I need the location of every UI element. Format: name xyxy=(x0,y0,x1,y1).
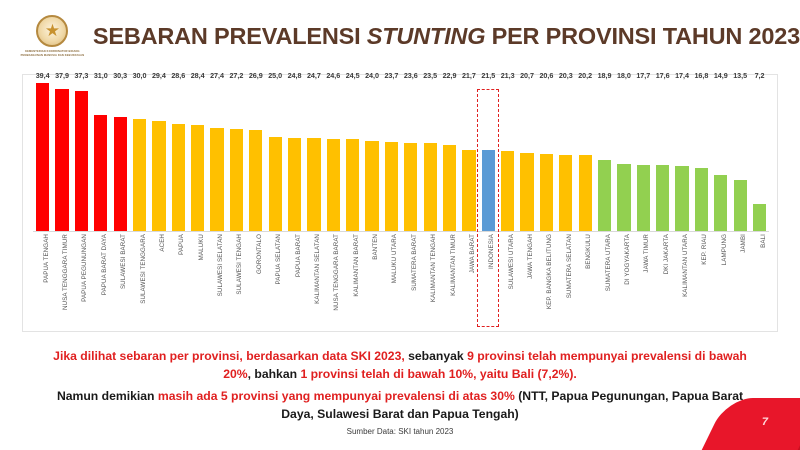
bar-value-label: 27,4 xyxy=(210,71,224,80)
bar xyxy=(520,153,533,231)
source-note: Sumber Data: SKI tahun 2023 xyxy=(0,427,800,436)
bar-value-label: 21,5 xyxy=(481,71,495,80)
bar xyxy=(55,89,68,231)
bar xyxy=(579,155,592,231)
category-slot: SUMATERA SELATAN xyxy=(556,233,575,325)
category-slot: SULAWESI TENGGARA xyxy=(130,233,149,325)
category-slot: LAMPUNG xyxy=(711,233,730,325)
bar-value-label: 29,4 xyxy=(152,71,166,80)
bar-slot: 29,4 xyxy=(149,81,168,231)
title-part-1: SEBARAN PREVALENSI xyxy=(93,23,367,49)
category-label: LAMPUNG xyxy=(721,234,728,265)
category-label: BENGKULU xyxy=(585,234,592,269)
bar xyxy=(307,138,320,231)
bar-slot: 24,6 xyxy=(324,81,343,231)
category-slot: BALI xyxy=(750,233,769,325)
bar-value-label: 22,9 xyxy=(443,71,457,80)
bar-value-label: 24,7 xyxy=(307,71,321,80)
bar xyxy=(714,175,727,231)
category-slot: PAPUA BARAT DAYA xyxy=(91,233,110,325)
caption-paragraph-1: Jika dilihat sebaran per provinsi, berda… xyxy=(40,348,760,383)
bar-slot: 24,8 xyxy=(285,81,304,231)
bar-slot: 17,4 xyxy=(672,81,691,231)
bar xyxy=(75,91,88,231)
bar xyxy=(424,143,437,231)
category-slot: NUSA TENGGARA TIMUR xyxy=(52,233,71,325)
bar-series: 39,437,937,331,030,330,029,428,628,427,4… xyxy=(33,81,769,231)
category-slot: BANTEN xyxy=(362,233,381,325)
category-slot: KALIMANTAN UTARA xyxy=(672,233,691,325)
category-slot: PAPUA PEGUNUNGAN xyxy=(72,233,91,325)
bar-slot: 20,7 xyxy=(517,81,536,231)
bar-value-label: 30,0 xyxy=(133,71,147,80)
bar-slot: 23,7 xyxy=(382,81,401,231)
bar-slot: 7,2 xyxy=(750,81,769,231)
category-label: ACEH xyxy=(159,234,166,252)
bar-slot: 26,9 xyxy=(246,81,265,231)
category-slot: PAPUA xyxy=(169,233,188,325)
category-label: SULAWESI BARAT xyxy=(120,234,127,289)
bar-slot: 24,5 xyxy=(343,81,362,231)
bar xyxy=(269,137,282,231)
category-label: BALI xyxy=(760,234,767,248)
category-label: KEP. BANGKA BELITUNG xyxy=(546,234,553,309)
caption-run-1: sebanyak xyxy=(408,349,467,363)
bar-slot: 13,5 xyxy=(731,81,750,231)
bar xyxy=(230,129,243,231)
bar-slot: 39,4 xyxy=(33,81,52,231)
bar xyxy=(346,139,359,231)
category-label: NUSA TENGGARA BARAT xyxy=(333,234,340,311)
bar xyxy=(753,204,766,231)
category-slot: SUMATERA BARAT xyxy=(401,233,420,325)
bar-slot: 21,5 xyxy=(479,81,498,231)
bar xyxy=(249,130,262,231)
category-slot: MALUKU xyxy=(188,233,207,325)
caption-run-3: , bahkan xyxy=(248,367,301,381)
bar-value-label: 37,3 xyxy=(74,71,88,80)
bar-value-label: 21,7 xyxy=(462,71,476,80)
category-label: SUMATERA SELATAN xyxy=(566,234,573,298)
bar-value-label: 37,9 xyxy=(55,71,69,80)
bar-chart: 39,437,937,331,030,330,029,428,628,427,4… xyxy=(33,81,769,327)
category-label: KALIMANTAN SELATAN xyxy=(314,234,321,304)
bar xyxy=(734,180,747,231)
bar xyxy=(114,117,127,231)
category-slot: JAWA BARAT xyxy=(459,233,478,325)
category-slot: SULAWESI TENGAH xyxy=(227,233,246,325)
bar xyxy=(540,154,553,231)
bar-slot: 25,0 xyxy=(266,81,285,231)
bar-value-label: 28,6 xyxy=(171,71,185,80)
category-label: JAWA TENGAH xyxy=(527,234,534,279)
category-label: KALIMANTAN TIMUR xyxy=(450,234,457,296)
category-slot: SULAWESI BARAT xyxy=(111,233,130,325)
bar xyxy=(598,160,611,231)
bar-slot: 18,0 xyxy=(614,81,633,231)
bar-value-label: 20,6 xyxy=(539,71,553,80)
category-slot: SUMATERA UTARA xyxy=(595,233,614,325)
bar xyxy=(152,121,165,231)
bar-value-label: 23,6 xyxy=(404,71,418,80)
category-label: DKI JAKARTA xyxy=(663,234,670,274)
bar-value-label: 24,8 xyxy=(288,71,302,80)
category-label: KEP. RIAU xyxy=(701,234,708,265)
bar-value-label: 18,9 xyxy=(598,71,612,80)
category-label: MALUKU UTARA xyxy=(391,234,398,283)
bar-slot: 17,6 xyxy=(653,81,672,231)
caption-paragraph-2: Namun demikian masih ada 5 provinsi yang… xyxy=(40,388,760,423)
caption-run-0: Namun demikian xyxy=(57,389,158,403)
category-slot: KALIMANTAN TIMUR xyxy=(440,233,459,325)
bar-slot: 20,2 xyxy=(576,81,595,231)
bar-slot: 21,7 xyxy=(459,81,478,231)
bar-value-label: 7,2 xyxy=(755,71,765,80)
category-slot: PAPUA TENGAH xyxy=(33,233,52,325)
caption-run-1: masih ada 5 provinsi yang mempunyai prev… xyxy=(158,389,515,403)
category-label: PAPUA xyxy=(178,234,185,255)
category-label: MALUKU xyxy=(198,234,205,260)
bar xyxy=(675,166,688,231)
corner-decoration: 7 xyxy=(696,396,800,450)
bar xyxy=(133,119,146,232)
bar xyxy=(172,124,185,231)
bar-slot: 20,3 xyxy=(556,81,575,231)
category-label: JAWA BARAT xyxy=(469,234,476,273)
star-emblem-icon: ★ xyxy=(36,15,68,47)
bar-value-label: 20,3 xyxy=(559,71,573,80)
bar-slot: 27,2 xyxy=(227,81,246,231)
bar xyxy=(695,168,708,231)
category-label: PAPUA BARAT DAYA xyxy=(101,234,108,295)
slide-header: ★ KEMENTERIAN KOORDINATOR BIDANG PEMBANG… xyxy=(0,0,800,72)
bar-value-label: 23,7 xyxy=(384,71,398,80)
category-slot: KALIMANTAN SELATAN xyxy=(304,233,323,325)
category-label: SULAWESI TENGGARA xyxy=(140,234,147,304)
category-label: NUSA TENGGARA TIMUR xyxy=(62,234,69,310)
category-slot: SULAWESI UTARA xyxy=(498,233,517,325)
bar xyxy=(94,115,107,231)
category-slot: DI YOGYAKARTA xyxy=(614,233,633,325)
category-label: SULAWESI SELATAN xyxy=(217,234,224,296)
bar-value-label: 21,3 xyxy=(501,71,515,80)
category-slot: JAWA TENGAH xyxy=(517,233,536,325)
bar-value-label: 24,5 xyxy=(346,71,360,80)
x-axis-line xyxy=(33,231,769,232)
category-slot: PAPUA BARAT xyxy=(285,233,304,325)
bar-value-label: 20,7 xyxy=(520,71,534,80)
bar xyxy=(637,165,650,231)
bar-slot: 22,9 xyxy=(440,81,459,231)
bar xyxy=(210,128,223,231)
logo-caption-line2: PEMBANGUNAN MANUSIA DAN KEBUDAYAAN xyxy=(21,54,85,58)
bar-value-label: 18,0 xyxy=(617,71,631,80)
category-label: SULAWESI UTARA xyxy=(508,234,515,289)
category-slot: SULAWESI SELATAN xyxy=(207,233,226,325)
bar-slot: 23,6 xyxy=(401,81,420,231)
category-label: KALIMANTAN TENGAH xyxy=(430,234,437,302)
category-slot: KEP. RIAU xyxy=(692,233,711,325)
bar-slot: 37,3 xyxy=(72,81,91,231)
bar-slot: 27,4 xyxy=(207,81,226,231)
bar-value-label: 39,4 xyxy=(36,71,50,80)
category-label: PAPUA SELATAN xyxy=(275,234,282,284)
category-label: DI YOGYAKARTA xyxy=(624,234,631,285)
corner-shape-front xyxy=(696,398,800,450)
bar xyxy=(385,142,398,231)
bar-value-label: 16,8 xyxy=(694,71,708,80)
category-label: PAPUA BARAT xyxy=(295,234,302,277)
category-label: SULAWESI TENGAH xyxy=(236,234,243,295)
category-slot: KEP. BANGKA BELITUNG xyxy=(537,233,556,325)
category-label: INDONESIA xyxy=(488,234,495,269)
category-slot: INDONESIA xyxy=(479,233,498,325)
star-glyph: ★ xyxy=(45,22,60,39)
ministry-logo: ★ KEMENTERIAN KOORDINATOR BIDANG PEMBANG… xyxy=(18,4,87,68)
bar-value-label: 20,2 xyxy=(578,71,592,80)
bar xyxy=(462,150,475,231)
bar-value-label: 24,6 xyxy=(326,71,340,80)
bar-value-label: 14,9 xyxy=(714,71,728,80)
category-label: BANTEN xyxy=(372,234,379,260)
page-title: SEBARAN PREVALENSI STUNTING PER PROVINSI… xyxy=(93,23,800,50)
bar-slot: 30,3 xyxy=(111,81,130,231)
bar-value-label: 13,5 xyxy=(733,71,747,80)
bar xyxy=(36,83,49,231)
category-slot: ACEH xyxy=(149,233,168,325)
category-slot: NUSA TENGGARA BARAT xyxy=(324,233,343,325)
bar xyxy=(443,145,456,231)
category-label: SUMATERA BARAT xyxy=(411,234,418,291)
bar xyxy=(501,151,514,231)
bar xyxy=(617,164,630,232)
bar-value-label: 23,5 xyxy=(423,71,437,80)
bar-slot: 21,3 xyxy=(498,81,517,231)
category-slot: KALIMANTAN BARAT xyxy=(343,233,362,325)
bar-value-label: 27,2 xyxy=(229,71,243,80)
bar-slot: 16,8 xyxy=(692,81,711,231)
bar-slot: 28,4 xyxy=(188,81,207,231)
bar-value-label: 30,3 xyxy=(113,71,127,80)
bar-value-label: 17,6 xyxy=(656,71,670,80)
category-axis-labels: PAPUA TENGAHNUSA TENGGARA TIMURPAPUA PEG… xyxy=(33,233,769,325)
slide-canvas: ★ KEMENTERIAN KOORDINATOR BIDANG PEMBANG… xyxy=(0,0,800,450)
bar-value-label: 17,7 xyxy=(636,71,650,80)
bar-value-label: 17,4 xyxy=(675,71,689,80)
category-slot: MALUKU UTARA xyxy=(382,233,401,325)
page-number: 7 xyxy=(762,416,768,428)
bar-slot: 30,0 xyxy=(130,81,149,231)
bar-slot: 23,5 xyxy=(421,81,440,231)
bar-slot: 17,7 xyxy=(634,81,653,231)
category-label: KALIMANTAN BARAT xyxy=(353,234,360,297)
logo-caption: KEMENTERIAN KOORDINATOR BIDANG PEMBANGUN… xyxy=(21,50,85,58)
bar-value-label: 24,0 xyxy=(365,71,379,80)
bar-slot: 37,9 xyxy=(52,81,71,231)
category-label: JAWA TIMUR xyxy=(643,234,650,273)
bar-value-label: 25,0 xyxy=(268,71,282,80)
bar-slot: 18,9 xyxy=(595,81,614,231)
category-label: GORONTALO xyxy=(256,234,263,274)
bar-slot: 14,9 xyxy=(711,81,730,231)
category-label: SUMATERA UTARA xyxy=(605,234,612,291)
category-label: JAMBI xyxy=(740,234,747,253)
chart-panel: 39,437,937,331,030,330,029,428,628,427,4… xyxy=(22,74,778,332)
bar-value-label: 28,4 xyxy=(191,71,205,80)
bar-value-label: 31,0 xyxy=(94,71,108,80)
category-label: KALIMANTAN UTARA xyxy=(682,234,689,297)
bar-value-label: 26,9 xyxy=(249,71,263,80)
category-slot: PAPUA SELATAN xyxy=(266,233,285,325)
bar xyxy=(482,150,495,231)
category-label: PAPUA TENGAH xyxy=(43,234,50,283)
bar-slot: 24,0 xyxy=(362,81,381,231)
title-part-italic: STUNTING xyxy=(367,23,486,49)
bar xyxy=(404,143,417,232)
category-slot: GORONTALO xyxy=(246,233,265,325)
bar xyxy=(288,138,301,231)
bar-slot: 24,7 xyxy=(304,81,323,231)
category-slot: DKI JAKARTA xyxy=(653,233,672,325)
category-slot: BENGKULU xyxy=(576,233,595,325)
bar xyxy=(656,165,669,231)
bar-slot: 31,0 xyxy=(91,81,110,231)
bar xyxy=(559,155,572,231)
bar-slot: 28,6 xyxy=(169,81,188,231)
caption-run-0: Jika dilihat sebaran per provinsi, berda… xyxy=(53,349,408,363)
caption-run-4: 1 provinsi telah di bawah 10%, yaitu Bal… xyxy=(300,367,576,381)
category-label: PAPUA PEGUNUNGAN xyxy=(81,234,88,302)
category-slot: KALIMANTAN TENGAH xyxy=(421,233,440,325)
bar xyxy=(365,141,378,231)
bar-slot: 20,6 xyxy=(537,81,556,231)
bar xyxy=(327,139,340,231)
category-slot: JAMBI xyxy=(731,233,750,325)
logo-caption-line1: KEMENTERIAN KOORDINATOR BIDANG xyxy=(21,50,85,54)
title-part-2: PER PROVINSI TAHUN 2023 xyxy=(485,23,800,49)
bar xyxy=(191,125,204,232)
category-slot: JAWA TIMUR xyxy=(634,233,653,325)
